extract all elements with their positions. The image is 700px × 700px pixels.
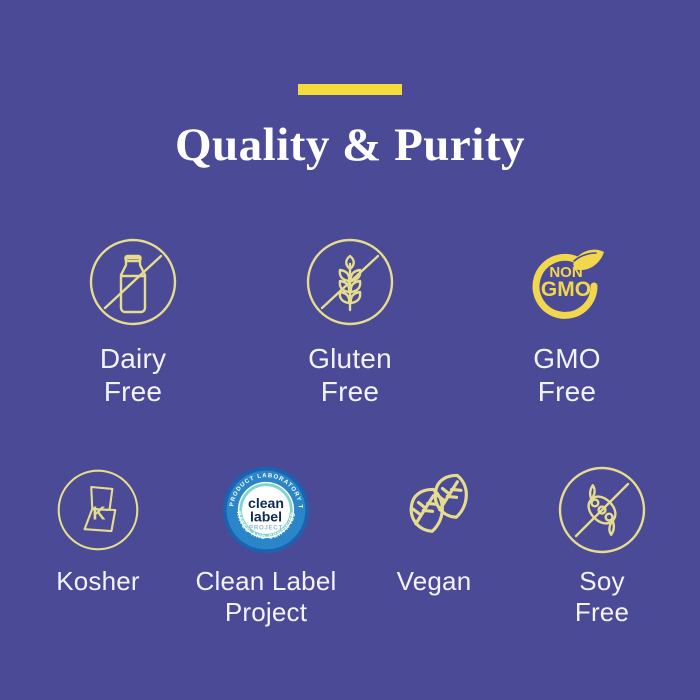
badge-dairy-free[interactable]: Dairy Free: [25, 234, 242, 408]
quality-and-purity-panel: Quality & Purity Dairy Free: [0, 0, 700, 700]
badge-label: GMO Free: [533, 342, 600, 408]
badge-label: Gluten Free: [308, 342, 392, 408]
kosher-letter: K: [92, 504, 105, 524]
accent-bar: [298, 84, 402, 95]
kosher-certification-icon: K: [52, 462, 144, 558]
clp-line2: label: [250, 508, 282, 524]
badge-label: Dairy Free: [100, 342, 166, 408]
milk-bottle-crossed-icon: [85, 234, 181, 330]
clp-line3: PROJECT: [249, 525, 283, 532]
page-title: Quality & Purity: [0, 120, 700, 172]
badge-clean-label-project[interactable]: EVERY PRODUCT LABORATORY TESTED RATED AN…: [182, 462, 350, 627]
non-gmo-line2: GMO: [541, 278, 591, 301]
badge-gluten-free[interactable]: Gluten Free: [242, 234, 459, 408]
wheat-stalk-crossed-icon: [302, 234, 398, 330]
badge-label: Vegan: [397, 566, 472, 597]
badge-label: Kosher: [56, 566, 140, 597]
soybean-pod-crossed-icon: [554, 462, 650, 558]
badge-kosher[interactable]: K Kosher: [14, 462, 182, 597]
two-leaves-icon: [386, 462, 482, 558]
non-gmo-project-icon: NON GMO: [519, 234, 615, 330]
clean-label-project-seal-icon: EVERY PRODUCT LABORATORY TESTED RATED AN…: [221, 462, 311, 558]
badge-row-one: Dairy Free Gluten Free: [0, 234, 700, 408]
badge-vegan[interactable]: Vegan: [350, 462, 518, 597]
badge-row-two: K Kosher EVERY PRODU: [0, 462, 700, 627]
badge-label: Soy Free: [575, 566, 629, 627]
badge-label: Clean Label Project: [196, 566, 337, 627]
badge-soy-free[interactable]: Soy Free: [518, 462, 686, 627]
badge-gmo-free[interactable]: NON GMO GMO Free: [459, 234, 676, 408]
